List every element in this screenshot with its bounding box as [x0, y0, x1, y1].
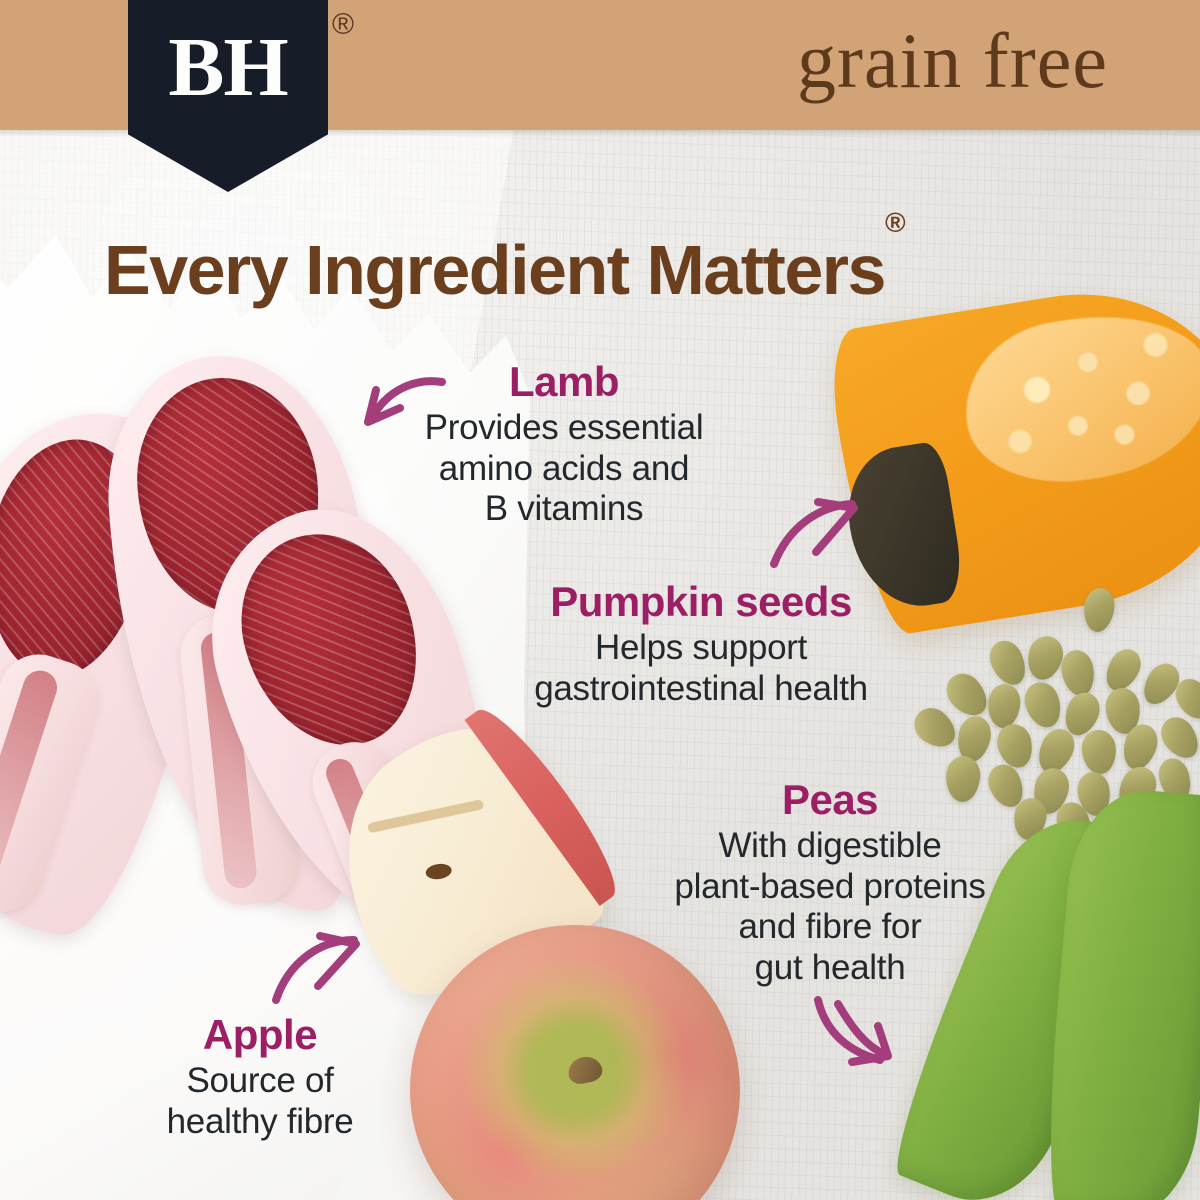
callout-peas-line-1: With digestible	[650, 826, 1010, 867]
callout-apple-line-1: Source of	[120, 1061, 400, 1102]
callout-lamb-line-3: B vitamins	[404, 489, 724, 530]
callout-pumpkin-seeds-title: Pumpkin seeds	[486, 580, 916, 624]
page-title: Every Ingredient Matters®	[104, 230, 904, 310]
callout-pumpkin-seeds-body: Helps support gastrointestinal health	[486, 628, 916, 709]
callout-peas-line-2: plant-based proteins	[650, 867, 1010, 908]
callout-pumpkin-seeds-line-2: gastrointestinal health	[486, 669, 916, 710]
callout-pumpkin-seeds: Pumpkin seeds Helps support gastrointest…	[486, 580, 916, 709]
brand-tagline: grain free	[797, 16, 1108, 106]
callout-pumpkin-seeds-line-1: Helps support	[486, 628, 916, 669]
callout-peas: Peas With digestible plant-based protein…	[650, 778, 1010, 988]
callout-apple-line-2: healthy fibre	[120, 1102, 400, 1143]
apple-arrow-icon	[268, 928, 368, 1008]
brand-initials: BH	[168, 26, 287, 110]
infographic-page: BH ® grain free Every Ingredient Matters…	[0, 0, 1200, 1200]
pumpkin-arrow-icon	[766, 492, 866, 574]
page-title-registered-icon: ®	[885, 207, 904, 238]
brand-registered-icon: ®	[332, 8, 354, 42]
callout-apple: Apple Source of healthy fibre	[120, 1013, 400, 1142]
callout-apple-body: Source of healthy fibre	[120, 1061, 400, 1142]
callout-peas-body: With digestible plant-based proteins and…	[650, 826, 1010, 988]
callout-lamb-line-2: amino acids and	[404, 449, 724, 490]
page-title-text: Every Ingredient Matters	[104, 231, 885, 309]
callout-peas-title: Peas	[650, 778, 1010, 822]
callout-apple-title: Apple	[120, 1013, 400, 1057]
callout-lamb-body: Provides essential amino acids and B vit…	[404, 408, 724, 530]
callout-lamb-line-1: Provides essential	[404, 408, 724, 449]
peas-arrow-icon	[808, 988, 912, 1072]
callout-lamb: Lamb Provides essential amino acids and …	[404, 360, 724, 530]
callout-lamb-title: Lamb	[404, 360, 724, 404]
callout-peas-line-4: gut health	[650, 948, 1010, 989]
callout-peas-line-3: and fibre for	[650, 907, 1010, 948]
